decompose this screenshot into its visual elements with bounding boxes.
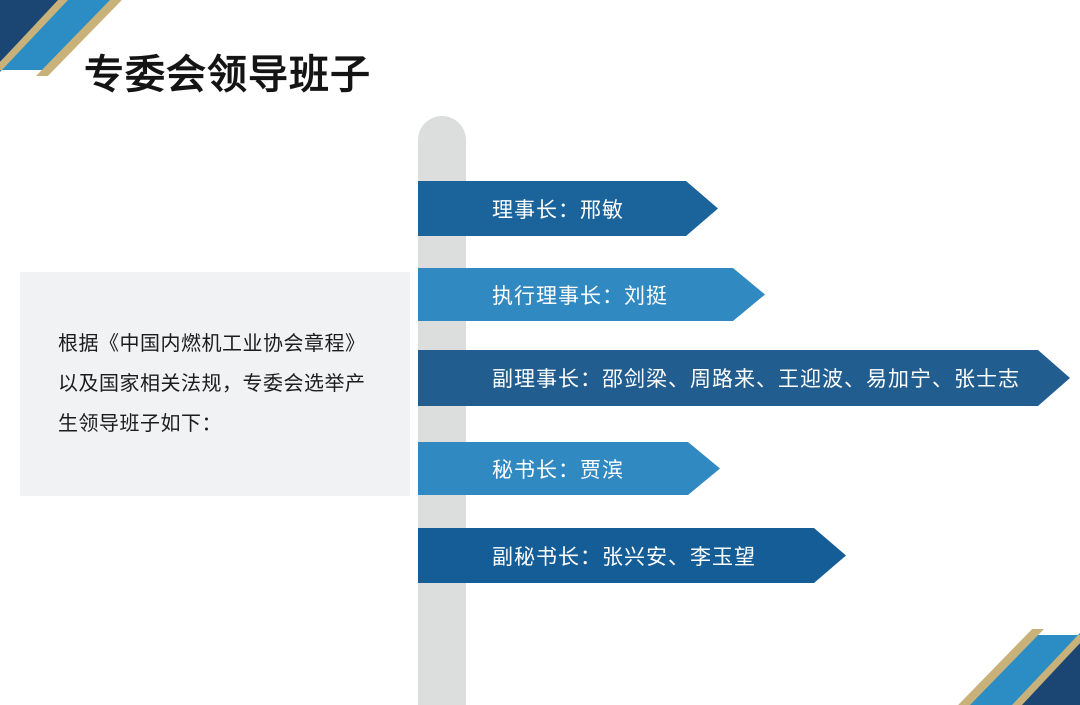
description-panel: 根据《中国内燃机工业协会章程》以及国家相关法规，专委会选举产生领导班子如下： (20, 272, 410, 496)
role-banner-label: 副理事长：邵剑梁、周路来、王迎波、易加宁、张士志 (418, 363, 1020, 393)
corner-navy-shape (0, 0, 60, 62)
role-banner-secretary-general[interactable]: 秘书长：贾滨 (418, 442, 720, 495)
slide-canvas: 专委会领导班子 根据《中国内燃机工业协会章程》以及国家相关法规，专委会选举产生领… (0, 0, 1080, 705)
corner-blue-shape (967, 633, 1080, 705)
corner-gold-stripe-a (0, 0, 70, 72)
role-banner-label: 秘书长：贾滨 (418, 454, 624, 484)
role-banner-deputy-secretaries-general[interactable]: 副秘书长：张兴安、李玉望 (418, 528, 846, 583)
corner-gold-stripe-b (958, 629, 1044, 705)
bottom-right-corner-decoration (950, 619, 1080, 705)
role-banner-label: 副秘书长：张兴安、李玉望 (418, 541, 756, 571)
role-banner-label: 执行理事长：刘挺 (418, 280, 668, 310)
role-banner-executive-chairman[interactable]: 执行理事长：刘挺 (418, 268, 765, 321)
corner-gold-stripe-a (1010, 633, 1080, 705)
role-banner-label: 理事长：邢敏 (418, 194, 624, 224)
role-banner-vice-chairmen[interactable]: 副理事长：邵剑梁、周路来、王迎波、易加宁、张士志 (418, 350, 1070, 406)
corner-navy-shape (1020, 643, 1080, 705)
page-title: 专委会领导班子 (84, 52, 371, 98)
role-banner-chairman[interactable]: 理事长：邢敏 (418, 181, 718, 236)
description-text: 根据《中国内燃机工业协会章程》以及国家相关法规，专委会选举产生领导班子如下： (58, 324, 372, 444)
corner-white-wedge (950, 625, 1036, 705)
